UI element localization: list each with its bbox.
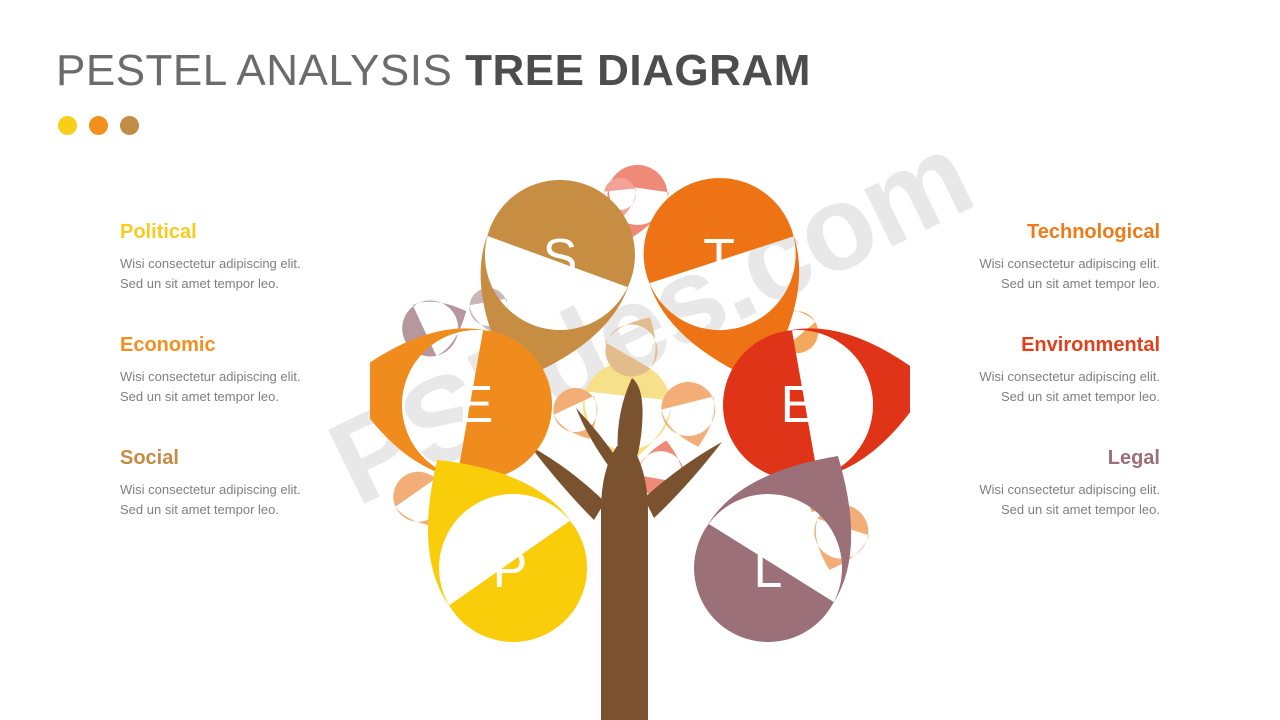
trunk-branch-left-upper xyxy=(576,408,618,468)
leaf-e-left-letter: E xyxy=(459,376,494,434)
slide-canvas: PSlides.com PESTEL ANALYSIS TREE DIAGRAM… xyxy=(0,0,1280,720)
entry-legal-heading: Legal xyxy=(880,448,1160,468)
leaf-l-letter: L xyxy=(754,541,783,599)
entry-political-body: Wisi consectetur adipiscing elit. Sed un… xyxy=(120,254,400,293)
entry-political-line2: Sed un sit amet tempor leo. xyxy=(120,274,400,294)
leaf-e-right-letter: E xyxy=(781,376,816,434)
entry-environmental[interactable]: Environmental Wisi consectetur adipiscin… xyxy=(880,335,1160,406)
entry-economic-body: Wisi consectetur adipiscing elit. Sed un… xyxy=(120,367,400,406)
entry-technological-body: Wisi consectetur adipiscing elit. Sed un… xyxy=(880,254,1160,293)
entry-technological-line2: Sed un sit amet tempor leo. xyxy=(880,274,1160,294)
leaf-p-letter: P xyxy=(493,541,528,599)
dot-orange-icon xyxy=(89,116,108,135)
entry-legal-line2: Sed un sit amet tempor leo. xyxy=(880,500,1160,520)
entry-technological-heading: Technological xyxy=(880,222,1160,242)
entry-environmental-line2: Sed un sit amet tempor leo. xyxy=(880,387,1160,407)
entry-economic-line2: Sed un sit amet tempor leo. xyxy=(120,387,400,407)
header-dots xyxy=(58,116,139,135)
entry-economic-line1: Wisi consectetur adipiscing elit. xyxy=(120,369,301,384)
page-title-light: PESTEL ANALYSIS xyxy=(56,46,465,95)
entry-legal-line1: Wisi consectetur adipiscing elit. xyxy=(979,482,1160,497)
leaf-s-letter: S xyxy=(543,229,578,287)
page-title-bold: TREE DIAGRAM xyxy=(465,46,811,95)
entry-technological-line1: Wisi consectetur adipiscing elit. xyxy=(979,256,1160,271)
entry-social[interactable]: Social Wisi consectetur adipiscing elit.… xyxy=(120,448,400,519)
entry-technological[interactable]: Technological Wisi consectetur adipiscin… xyxy=(880,222,1160,293)
entry-environmental-body: Wisi consectetur adipiscing elit. Sed un… xyxy=(880,367,1160,406)
trunk-stem xyxy=(601,446,648,720)
dot-tan-icon xyxy=(120,116,139,135)
entry-environmental-heading: Environmental xyxy=(880,335,1160,355)
entry-economic[interactable]: Economic Wisi consectetur adipiscing eli… xyxy=(120,335,400,406)
pestel-tree-diagram: S T E E P L xyxy=(370,150,910,720)
page-title: PESTEL ANALYSIS TREE DIAGRAM xyxy=(56,48,811,94)
entry-social-line1: Wisi consectetur adipiscing elit. xyxy=(120,482,301,497)
entry-environmental-line1: Wisi consectetur adipiscing elit. xyxy=(979,369,1160,384)
entry-political-heading: Political xyxy=(120,222,400,242)
entry-political-line1: Wisi consectetur adipiscing elit. xyxy=(120,256,301,271)
entry-social-heading: Social xyxy=(120,448,400,468)
dot-yellow-icon xyxy=(58,116,77,135)
leaf-t-letter: T xyxy=(703,229,735,287)
entry-social-body: Wisi consectetur adipiscing elit. Sed un… xyxy=(120,480,400,519)
entry-social-line2: Sed un sit amet tempor leo. xyxy=(120,500,400,520)
entry-economic-heading: Economic xyxy=(120,335,400,355)
entry-political[interactable]: Political Wisi consectetur adipiscing el… xyxy=(120,222,400,293)
trunk-branch-left xyxy=(530,446,605,520)
entry-legal-body: Wisi consectetur adipiscing elit. Sed un… xyxy=(880,480,1160,519)
entry-legal[interactable]: Legal Wisi consectetur adipiscing elit. … xyxy=(880,448,1160,519)
